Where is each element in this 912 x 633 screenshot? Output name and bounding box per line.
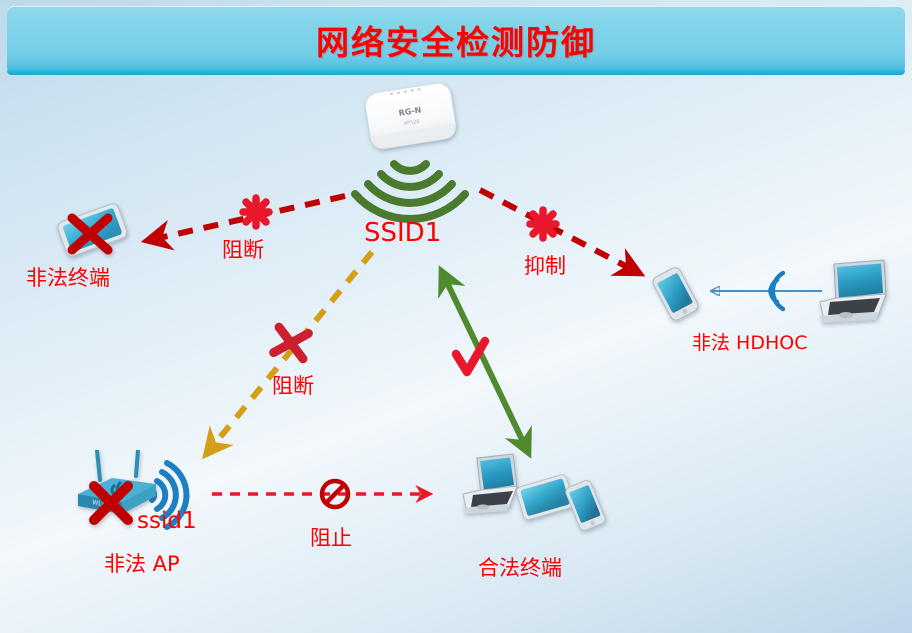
link-allow-legal-terminals: [442, 272, 528, 452]
check-marker-allow: [456, 341, 485, 372]
header-underline: [7, 70, 905, 75]
label-ssid-rogue: ssid1: [137, 508, 197, 534]
cross-marker-block-rogue: [274, 327, 309, 359]
wifi-arcs-adhoc-icon: [770, 273, 783, 309]
label-illegal-ap: 非法 AP: [104, 548, 180, 578]
node-central-ap[interactable]: RG-N AP520: [352, 82, 470, 159]
diagram-canvas: 网络安全检测防御: [0, 0, 912, 633]
label-block-left: 阻断: [222, 234, 264, 264]
label-legal-terminal: 合法终端: [478, 552, 562, 582]
asterisk-marker-suppress: [530, 210, 556, 238]
node-legal-terminals[interactable]: [455, 452, 615, 547]
device-group-icon: [455, 452, 615, 542]
page-title: 网络安全检测防御: [0, 16, 912, 64]
smartphone-icon: [644, 262, 706, 324]
label-illegal-terminal: 非法终端: [26, 262, 110, 292]
node-illegal-adhoc-phone[interactable]: [644, 262, 706, 329]
asterisk-marker-block-left: [243, 198, 269, 226]
ap-wifi-arcs-icon: [355, 164, 465, 219]
label-suppress-right: 抑制: [524, 250, 566, 280]
label-ssid-main: SSID1: [364, 218, 441, 248]
node-illegal-terminal[interactable]: [46, 198, 138, 265]
label-block-rogue: 阻断: [272, 370, 314, 400]
label-illegal-adhoc: 非法 HDHOC: [692, 328, 807, 355]
link-block-rogue-ap: [208, 252, 372, 452]
laptop-icon: [812, 258, 894, 328]
wireless-access-point-icon: RG-N AP520: [352, 82, 470, 154]
no-entry-marker-prevent: [322, 481, 348, 507]
node-illegal-adhoc-laptop[interactable]: [812, 258, 894, 333]
tablet-blocked-icon: [46, 198, 138, 260]
label-prevent: 阻止: [310, 522, 352, 552]
